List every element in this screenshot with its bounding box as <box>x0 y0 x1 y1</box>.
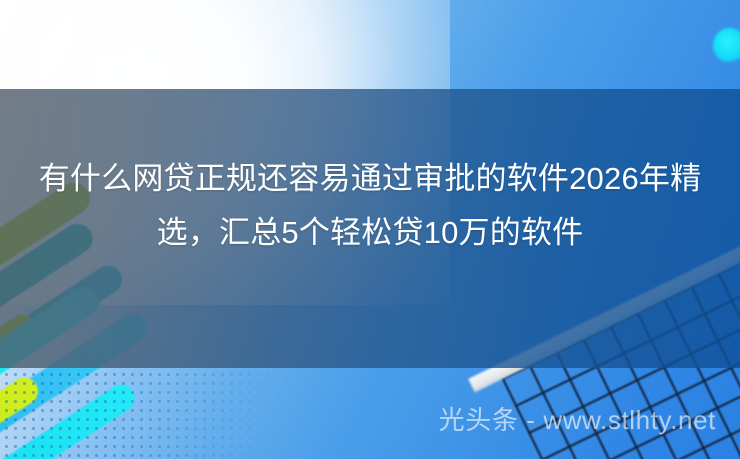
page-title: 有什么网贷正规还容易通过审批的软件2026年精选，汇总5个轻松贷10万的软件 <box>0 152 740 260</box>
cyan-blob-decoration <box>713 28 740 62</box>
banner-image: 有什么网贷正规还容易通过审批的软件2026年精选，汇总5个轻松贷10万的软件 光… <box>0 0 740 459</box>
site-watermark: 光头条 - www.stlhty.net <box>0 403 740 437</box>
